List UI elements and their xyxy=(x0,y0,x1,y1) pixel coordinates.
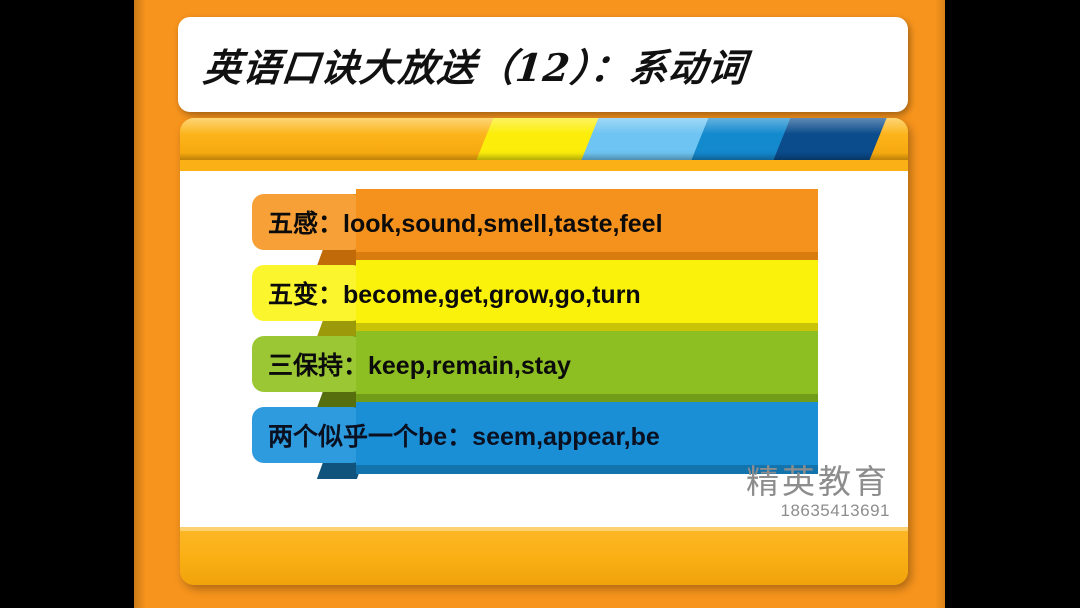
bar-label: 三保持：keep,remain,stay xyxy=(268,336,571,392)
panel-footer xyxy=(180,527,908,585)
stage-left-shadow xyxy=(134,0,146,608)
banner-segment-light-blue xyxy=(579,118,711,160)
bar-list: 五感：look,sound,smell,taste,feel 五变：become… xyxy=(180,171,908,527)
page-title: 英语口诀大放送（12）：系动词 xyxy=(201,37,750,92)
panel-footer-highlight xyxy=(180,527,908,531)
stage-right-shadow xyxy=(935,0,945,608)
bar-label: 五感：look,sound,smell,taste,feel xyxy=(268,194,663,250)
banner-segment-dark-blue xyxy=(771,118,889,160)
bar-bottom-lip xyxy=(356,465,818,474)
bar-label: 两个似乎一个be：seem,appear,be xyxy=(268,407,660,463)
content-panel: 五感：look,sound,smell,taste,feel 五变：become… xyxy=(180,118,908,585)
decorative-banner xyxy=(180,118,908,160)
panel-body: 五感：look,sound,smell,taste,feel 五变：become… xyxy=(180,171,908,527)
slide-stage: 英语口诀大放送（12）：系动词 xyxy=(134,0,945,608)
title-card: 英语口诀大放送（12）：系动词 xyxy=(178,17,908,112)
list-item: 三保持：keep,remain,stay xyxy=(252,331,818,409)
bar-label: 五变：become,get,grow,go,turn xyxy=(268,265,641,321)
slide-root: 英语口诀大放送（12）：系动词 xyxy=(0,0,1080,608)
list-item: 五变：become,get,grow,go,turn xyxy=(252,260,818,338)
banner-segment-yellow xyxy=(474,118,601,160)
list-item: 两个似乎一个be：seem,appear,be xyxy=(252,402,818,480)
list-item: 五感：look,sound,smell,taste,feel xyxy=(252,189,818,267)
